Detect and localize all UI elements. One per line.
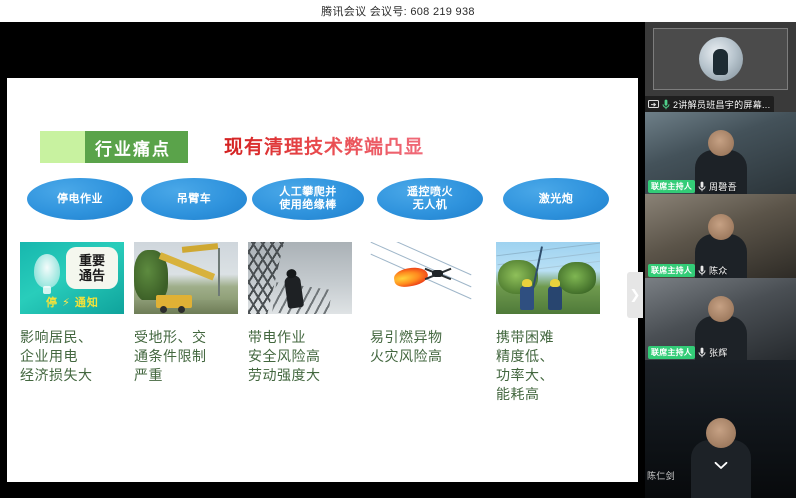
pill-line: 遥控喷火	[407, 186, 453, 199]
worker-shape	[284, 275, 304, 309]
pain-point-columns: 停电作业 重要 通告 停 ⚡ 通知	[7, 78, 638, 482]
expand-panel-arrow-button[interactable]: ❯	[627, 272, 643, 318]
meeting-title-text: 腾讯会议 会议号: 608 219 938	[321, 3, 475, 19]
caption-line: 功率大、	[496, 366, 614, 385]
pain-point-pill-4: 遥控喷火 无人机	[377, 178, 483, 220]
participant-namebar: 联席主持人 周磬吾	[645, 178, 737, 194]
participant-name: 陈仁剑	[647, 469, 675, 482]
worker-shape	[548, 286, 562, 310]
participant-name: 陈众	[709, 264, 728, 277]
caption-line: 企业用电	[20, 347, 138, 366]
caption-line: 劳动强度大	[248, 366, 366, 385]
pain-point-caption-3: 带电作业 安全风险高 劳动强度大	[248, 328, 366, 385]
pain-point-caption-4: 易引燃异物 火灾风险高	[370, 328, 488, 366]
presentation-slide: 行业痛点 现有清理技术弊端凸显 停电作业 重要	[7, 78, 638, 482]
participant-name: 2讲解员班昌宇的屏幕...	[673, 98, 770, 111]
participant-tile-4[interactable]: 陈仁剑	[645, 360, 796, 498]
crane-arm-upper-shape	[182, 243, 218, 253]
pill-line: 吊臂车	[177, 193, 212, 206]
caption-line: 能耗高	[496, 385, 614, 404]
participant-tile-1[interactable]: 联席主持人 周磬吾	[645, 112, 796, 194]
notice-line-2: 通告	[79, 268, 105, 283]
pain-point-pill-3: 人工攀爬并 使用绝缘棒	[252, 178, 364, 220]
avatar	[699, 37, 743, 81]
flame-drone-image	[370, 242, 474, 314]
caption-line: 通条件限制	[134, 347, 252, 366]
notice-strip-left: 停	[46, 297, 58, 309]
pill-line: 使用绝缘棒	[279, 199, 337, 212]
participant-name: 张辉	[709, 346, 728, 359]
crane-artwork	[134, 242, 238, 314]
crane-truck-image	[134, 242, 238, 314]
cohost-badge: 联席主持人	[648, 346, 695, 359]
caption-line: 带电作业	[248, 328, 366, 347]
pain-point-column-4: 遥控喷火 无人机	[370, 178, 490, 366]
chevron-down-icon[interactable]	[710, 458, 732, 472]
shared-screen-thumbnail	[653, 28, 788, 90]
participant-namebar: 2讲解员班昌宇的屏幕...	[645, 96, 774, 112]
pill-line: 人工攀爬并	[279, 186, 337, 199]
lightbulb-icon	[34, 254, 60, 288]
participant-tile-shared-screen[interactable]: 2讲解员班昌宇的屏幕...	[645, 22, 796, 112]
participant-rail[interactable]: 2讲解员班昌宇的屏幕... 联席主持人 周磬吾 联席主持人	[645, 22, 796, 498]
caption-line: 火灾风险高	[370, 347, 488, 366]
caption-line: 易引燃异物	[370, 328, 488, 347]
laser-workers-image	[496, 242, 600, 314]
worker-shape	[520, 286, 534, 310]
pain-point-pill-1: 停电作业	[27, 178, 133, 220]
caption-line: 携带困难	[496, 328, 614, 347]
pain-point-pill-2: 吊臂车	[141, 178, 247, 220]
caption-line: 精度低、	[496, 347, 614, 366]
power-line-shape	[496, 242, 600, 256]
participant-namebar: 联席主持人 陈众	[645, 262, 728, 278]
pill-line: 停电作业	[57, 193, 103, 206]
participant-namebar: 联席主持人 张辉	[645, 344, 728, 360]
pain-point-caption-2: 受地形、交 通条件限制 严重	[134, 328, 252, 385]
worker-climbing-tower-image	[248, 242, 352, 314]
tree-shape	[558, 262, 596, 294]
participant-tile-3[interactable]: 联席主持人 张辉	[645, 278, 796, 360]
pain-point-column-1: 停电作业 重要 通告 停 ⚡ 通知	[20, 178, 140, 385]
microphone-icon	[698, 181, 706, 192]
participant-name: 周磬吾	[709, 180, 737, 193]
microphone-icon	[698, 347, 706, 358]
truck-shape	[156, 295, 192, 308]
participant-tile-2[interactable]: 联席主持人 陈众	[645, 194, 796, 278]
cohost-badge: 联席主持人	[648, 180, 695, 193]
caption-line: 经济损失大	[20, 366, 138, 385]
pain-point-column-2: 吊臂车 受地形、交 通条件限制	[134, 178, 254, 385]
notice-artwork: 重要 通告 停 ⚡ 通知	[20, 242, 124, 314]
laser-artwork	[496, 242, 600, 314]
pain-point-column-3: 人工攀爬并 使用绝缘棒 带电作业 安全风险高	[248, 178, 368, 385]
tower-artwork	[248, 242, 352, 314]
drone-artwork	[370, 242, 474, 314]
caption-line: 安全风险高	[248, 347, 366, 366]
meeting-title-bar: 腾讯会议 会议号: 608 219 938	[0, 0, 796, 22]
microphone-icon	[662, 99, 670, 110]
caption-line: 受地形、交	[134, 328, 252, 347]
utility-pole-shape	[218, 248, 220, 296]
cohost-badge: 联席主持人	[648, 264, 695, 277]
pill-line: 无人机	[407, 199, 453, 212]
meeting-window: 腾讯会议 会议号: 608 219 938 行业痛点 现有清理技术弊端凸显 停电…	[0, 0, 796, 498]
shared-screen-stage[interactable]: 行业痛点 现有清理技术弊端凸显 停电作业 重要	[0, 22, 645, 498]
pain-point-column-5: 激光炮 携带困难 精度低、	[496, 178, 616, 404]
pain-point-pill-5: 激光炮	[503, 178, 609, 220]
pill-line: 激光炮	[539, 193, 574, 206]
drone-body-shape	[432, 270, 443, 277]
notice-strip-right: 通知	[75, 297, 99, 309]
power-outage-notice-image: 重要 通告 停 ⚡ 通知	[20, 242, 124, 314]
notice-line-1: 重要	[79, 253, 105, 268]
screen-share-icon	[648, 100, 659, 109]
caption-line: 影响居民、	[20, 328, 138, 347]
pain-point-caption-5: 携带困难 精度低、 功率大、 能耗高	[496, 328, 614, 404]
notice-strip: 停 ⚡ 通知	[46, 294, 99, 310]
pain-point-caption-1: 影响居民、 企业用电 经济损失大	[20, 328, 138, 385]
notice-bubble: 重要 通告	[66, 247, 118, 289]
caption-line: 严重	[134, 366, 252, 385]
microphone-icon	[698, 265, 706, 276]
